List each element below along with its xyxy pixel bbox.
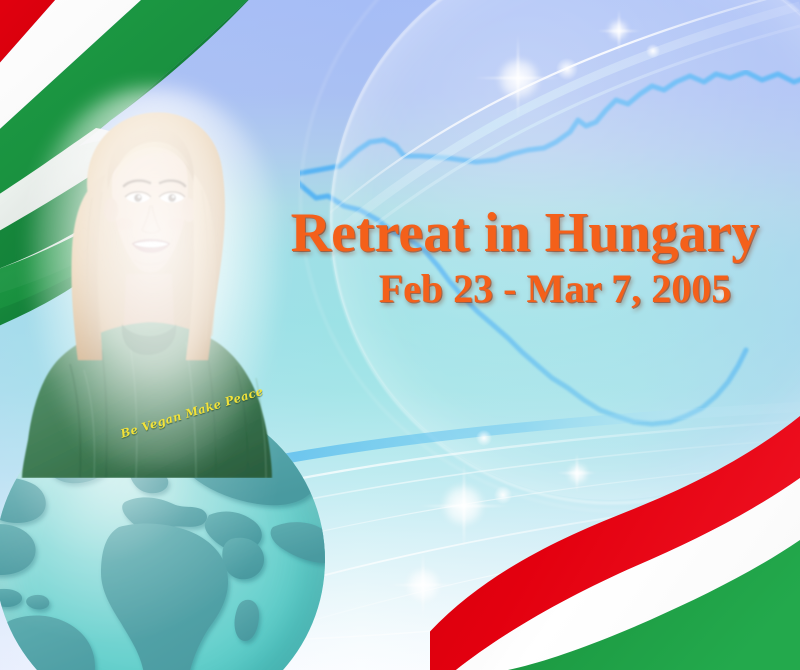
headline-block: Retreat in Hungary Feb 23 - Mar 7, 2005 bbox=[260, 205, 790, 310]
poster-canvas: Be Vegan Make Peace Retreat in Hungary F… bbox=[0, 0, 800, 670]
portrait-glow bbox=[30, 88, 280, 468]
speaker-portrait: Be Vegan Make Peace bbox=[10, 78, 280, 478]
poster-date-range: Feb 23 - Mar 7, 2005 bbox=[260, 268, 790, 310]
poster-title: Retreat in Hungary bbox=[260, 205, 790, 262]
